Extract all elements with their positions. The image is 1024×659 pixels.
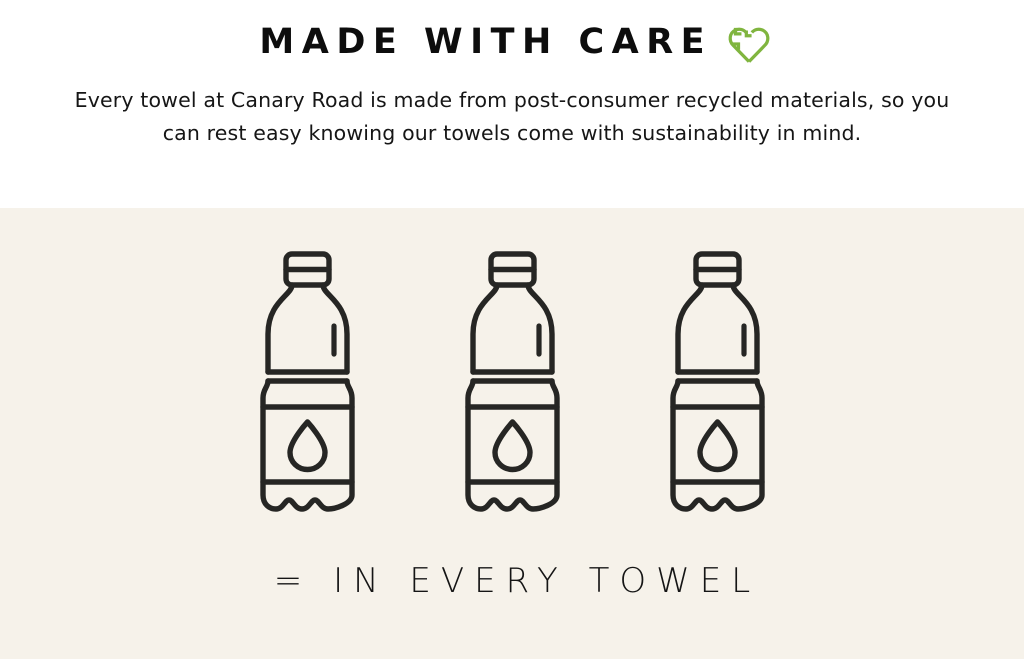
water-drop-icon [700, 422, 735, 470]
water-drop-icon [290, 422, 325, 470]
headline-row: MADE WITH CARE [252, 16, 772, 68]
made-with-care-banner: MADE WITH CARE Every towel at Canary Roa… [0, 0, 1024, 659]
equation-caption: = IN EVERY TOWEL [264, 561, 760, 601]
bottle-row [255, 250, 770, 525]
recycle-heart-icon [726, 19, 772, 65]
recycled-plastic-bottle-icon [255, 250, 360, 525]
water-drop-icon [495, 422, 530, 470]
intro-paragraph: Every towel at Canary Road is made from … [62, 84, 962, 150]
recycled-plastic-bottle-icon [460, 250, 565, 525]
intro-section: MADE WITH CARE Every towel at Canary Roa… [0, 0, 1024, 208]
page-title: MADE WITH CARE [252, 25, 712, 60]
recycled-plastic-bottle-icon [665, 250, 770, 525]
bottles-section: = IN EVERY TOWEL [0, 208, 1024, 659]
